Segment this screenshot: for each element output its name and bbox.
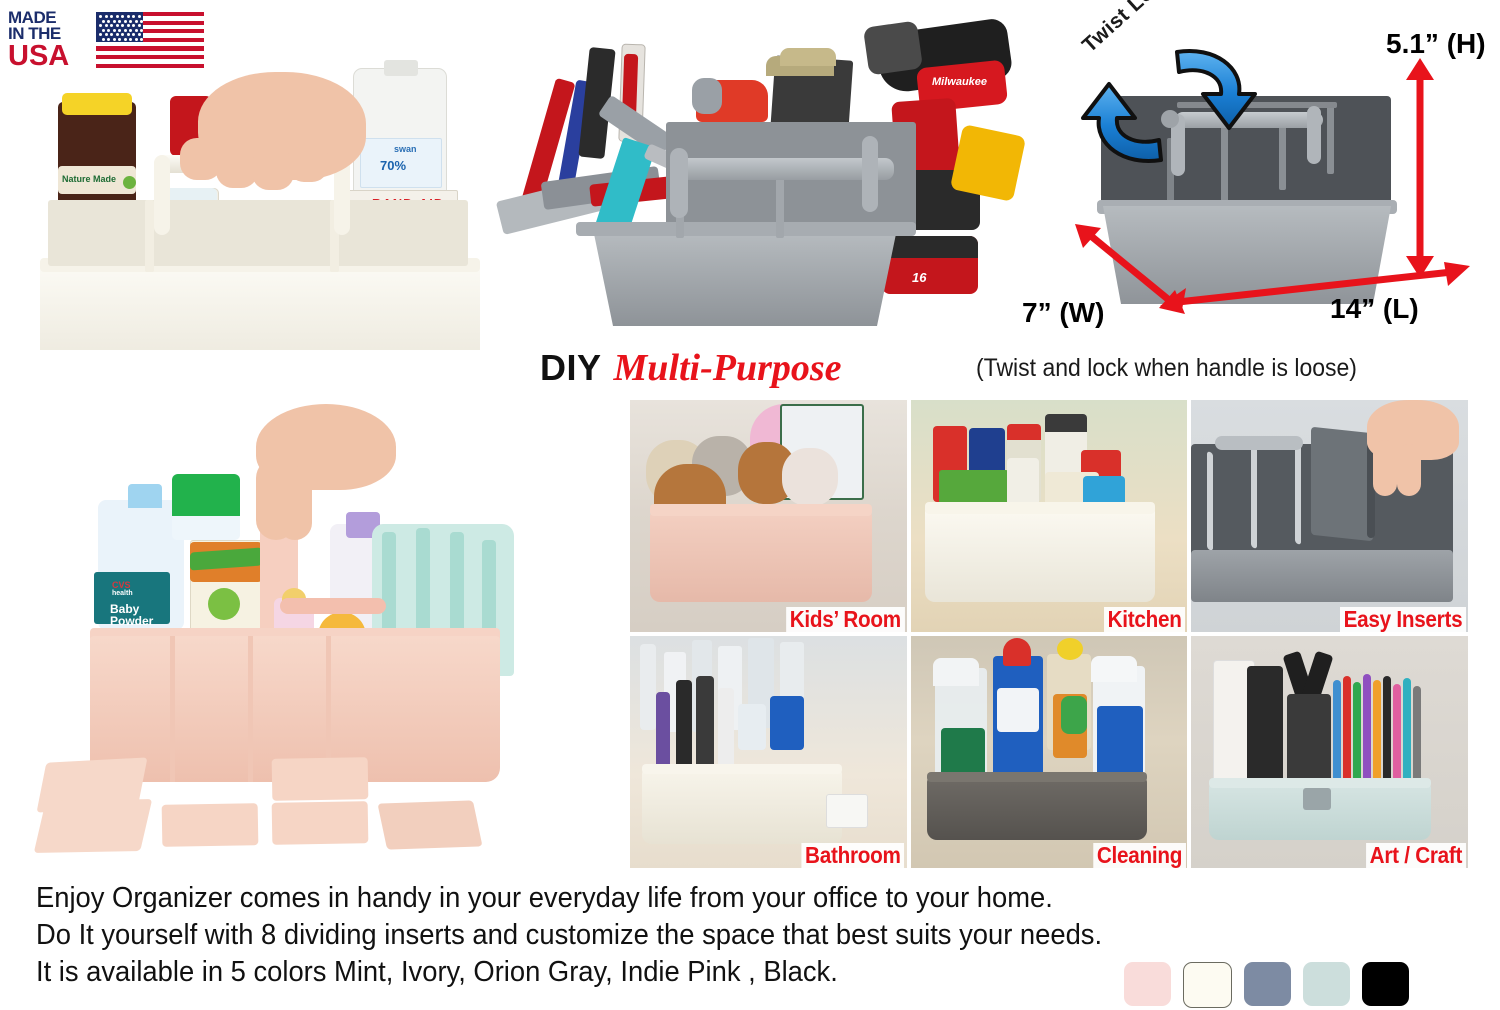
bath-tube [738, 704, 766, 750]
spray-trigger-right [1091, 656, 1137, 682]
caddy-divider-1 [145, 200, 154, 272]
usecase-cell-kids-room[interactable]: Kids’ Room [630, 400, 907, 632]
tape-measure-top [882, 236, 978, 258]
marker-7 [1393, 684, 1401, 786]
bathroom-caddy [642, 770, 842, 844]
diy-black-text: DIY [540, 347, 602, 388]
electric-toothbrush-2 [696, 676, 714, 772]
cvs-health: health [112, 590, 133, 597]
alcohol-brand: swan [394, 144, 417, 154]
swatch-mint [1303, 962, 1350, 1006]
yellow-tool [950, 124, 1025, 202]
tool-caddy-rim [576, 222, 916, 236]
spray-trigger-left [933, 658, 979, 686]
description-line-1: Enjoy Organizer comes in handy in your e… [36, 880, 1082, 917]
divider-insert-6 [377, 800, 482, 849]
tool-handle-post-right [862, 136, 878, 212]
bottle-label-text: Nature Made [62, 174, 116, 184]
alcohol-percent: 70% [380, 158, 406, 173]
marker-1 [1333, 680, 1341, 786]
usecase-cell-easy-inserts[interactable]: Easy Inserts [1191, 400, 1468, 632]
tape-brand: 16 [912, 270, 926, 285]
caption-art-craft: Art / Craft [1366, 843, 1466, 868]
caddy-inner [48, 200, 468, 266]
description-line-3: It is available in 5 colors Mint, Ivory,… [36, 954, 1082, 991]
tool-caddy-front [580, 230, 910, 326]
cleaner-cap-yellow [1057, 638, 1083, 660]
toothbrush-purple [656, 692, 670, 770]
allen-keys-2 [780, 48, 836, 66]
toothbrush-white [718, 688, 734, 772]
swatch-black [1362, 962, 1409, 1006]
drill-chuck [863, 20, 923, 75]
spice-jar-white-cap [1045, 414, 1087, 432]
marker-5 [1373, 680, 1381, 786]
powder-label: Powder [110, 614, 153, 628]
supplement-bottle [58, 102, 136, 212]
diy-red-text: Multi-Purpose [614, 347, 842, 389]
kids-caddy [650, 512, 872, 602]
marker-4 [1363, 674, 1371, 786]
baby-caddy-handle [280, 598, 386, 614]
sprayer-green [1061, 696, 1087, 734]
bathroom-caddy-rim [642, 764, 842, 774]
description-block: Enjoy Organizer comes in handy in your e… [36, 880, 1082, 991]
finger-4 [288, 142, 328, 182]
photo-medicine-organizer: Nature Made swan 70% BAND·AID FLEXIBLE F… [20, 60, 500, 350]
kitchen-caddy-rim [925, 502, 1155, 514]
kids-caddy-rim [650, 504, 872, 516]
insert-panel-held [1311, 427, 1373, 542]
kitchen-caddy [925, 508, 1155, 602]
usecase-cell-art-craft[interactable]: Art / Craft [1191, 636, 1468, 868]
bottle-cap-yellow [62, 93, 132, 115]
photo-baby-organizer: CVS health Baby Powder [30, 400, 590, 870]
caddy-front-wall [40, 266, 480, 350]
diagram-handle-post-right [1307, 106, 1321, 164]
length-label: 14” (L) [1330, 293, 1419, 325]
spray-trigger [692, 78, 722, 114]
inserts-caddy-front [1191, 550, 1453, 602]
inserts-handle [1215, 436, 1303, 450]
marker-3 [1353, 682, 1361, 786]
label-leaf-dot [123, 176, 136, 189]
divider-insert-4 [272, 757, 369, 801]
baby-powder-cap [128, 484, 162, 508]
scissors-handle-group [1287, 694, 1331, 784]
insert-wall-3 [1295, 439, 1301, 545]
height-label: 5.1” (H) [1386, 28, 1486, 60]
baby-photo-finger [278, 466, 312, 540]
cvs-brand: CVS [112, 580, 131, 590]
art-caddy-rim [1209, 778, 1431, 788]
caption-bathroom: Bathroom [802, 843, 905, 868]
description-line-2: Do It yourself with 8 dividing inserts a… [36, 917, 1082, 954]
swatch-ivory [1183, 962, 1232, 1008]
wipes-green-lid [172, 474, 240, 516]
diagram-divider-4 [1327, 104, 1334, 174]
divider-insert-3 [162, 803, 259, 847]
twist-lock-note: (Twist and lock when handle is loose) [976, 354, 1357, 383]
caption-kids-room: Kids’ Room [786, 607, 904, 632]
color-swatch-row [1124, 962, 1409, 1008]
plush-cat-white [782, 448, 838, 506]
divider-insert-5 [272, 801, 369, 845]
divider-insert-2 [34, 799, 153, 853]
usecase-grid: Kids’ Room Kitchen Easy Inserts [630, 400, 1468, 868]
spice-jar-tan-cap [1007, 424, 1041, 440]
inserts-finger-1 [1373, 440, 1397, 496]
handle-post-left [154, 155, 170, 235]
inserts-finger-2 [1397, 444, 1421, 496]
usecase-cell-cleaning[interactable]: Cleaning [911, 636, 1188, 868]
usecase-cell-kitchen[interactable]: Kitchen [911, 400, 1188, 632]
usecase-cell-bathroom[interactable]: Bathroom [630, 636, 907, 868]
marker-9 [1413, 686, 1421, 786]
bath-bottle-1 [640, 644, 656, 730]
snack-pouch-badge [208, 588, 240, 620]
marker-2 [1343, 676, 1351, 786]
loose-insert-white [826, 794, 868, 828]
height-dimension-arrow [1400, 58, 1440, 278]
insert-wall-2 [1251, 445, 1257, 549]
swatch-indie-pink [1124, 962, 1171, 1006]
swatch-orion-gray [1244, 962, 1291, 1006]
insert-wall-1 [1207, 451, 1213, 551]
marker-6 [1383, 676, 1391, 786]
caption-cleaning: Cleaning [1093, 843, 1185, 868]
clorox-cap-red [1003, 638, 1031, 666]
length-dimension-arrow [1160, 260, 1470, 310]
marker-8 [1403, 678, 1411, 786]
clorox-label-2 [1097, 706, 1143, 776]
caption-kitchen: Kitchen [1104, 607, 1185, 632]
notebook-black [1247, 666, 1283, 786]
alcohol-bottle-cap [384, 60, 418, 76]
diy-heading: DIYMulti-Purpose [540, 346, 842, 390]
baby-caddy-seam-1 [170, 636, 175, 782]
electric-toothbrush-1 [676, 680, 692, 770]
art-caddy-latch [1303, 788, 1331, 810]
soap-dispenser-blue [770, 696, 804, 750]
photo-tool-organizer: ·40 Milwaukee 16 [480, 18, 1025, 343]
cleaning-caddy [927, 778, 1147, 840]
clorox-label-1 [997, 688, 1039, 732]
caption-easy-inserts: Easy Inserts [1340, 607, 1466, 632]
baby-caddy-seam-2 [248, 636, 253, 782]
width-label: 7” (W) [1022, 297, 1104, 329]
cleaning-caddy-rim [927, 772, 1147, 782]
tool-handle-post-left [670, 148, 688, 218]
drill-brand: Milwaukee [932, 76, 987, 88]
